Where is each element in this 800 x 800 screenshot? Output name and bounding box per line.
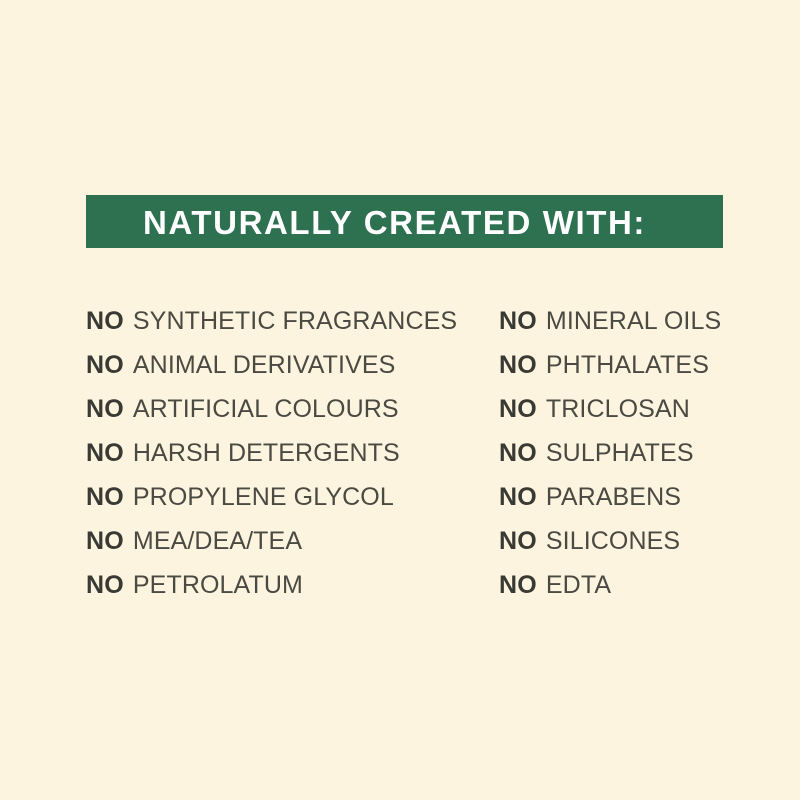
list-item: NO PETROLATUM (86, 563, 499, 607)
item-prefix-no: NO (499, 353, 537, 378)
item-label: SILICONES (546, 529, 680, 554)
item-prefix-no: NO (86, 573, 124, 598)
ingredient-claims-poster: NATURALLY CREATED WITH: NO SYNTHETIC FRA… (0, 0, 800, 800)
list-item: NO MINERAL OILS (499, 299, 746, 343)
item-prefix-no: NO (86, 397, 124, 422)
exclusion-list: NO SYNTHETIC FRAGRANCES NO ANIMAL DERIVA… (86, 299, 746, 607)
item-prefix-no: NO (499, 485, 537, 510)
list-item: NO PROPYLENE GLYCOL (86, 475, 499, 519)
item-prefix-no: NO (86, 529, 124, 554)
item-label: PETROLATUM (133, 573, 303, 598)
item-prefix-no: NO (499, 397, 537, 422)
item-label: PHTHALATES (546, 353, 709, 378)
item-label: MEA/DEA/TEA (133, 529, 302, 554)
item-label: ANIMAL DERIVATIVES (133, 353, 396, 378)
item-label: ARTIFICIAL COLOURS (133, 397, 399, 422)
item-prefix-no: NO (86, 309, 124, 334)
list-item: NO SYNTHETIC FRAGRANCES (86, 299, 499, 343)
item-label: MINERAL OILS (546, 309, 721, 334)
item-prefix-no: NO (86, 353, 124, 378)
item-prefix-no: NO (499, 309, 537, 334)
item-prefix-no: NO (499, 529, 537, 554)
list-item: NO ANIMAL DERIVATIVES (86, 343, 499, 387)
left-column: NO SYNTHETIC FRAGRANCES NO ANIMAL DERIVA… (86, 299, 499, 607)
item-label: HARSH DETERGENTS (133, 441, 400, 466)
item-label: PROPYLENE GLYCOL (133, 485, 394, 510)
item-label: SULPHATES (546, 441, 694, 466)
item-label: PARABENS (546, 485, 681, 510)
page-title: NATURALLY CREATED WITH: (143, 206, 646, 239)
item-prefix-no: NO (86, 485, 124, 510)
item-label: TRICLOSAN (546, 397, 690, 422)
item-prefix-no: NO (499, 441, 537, 466)
list-item: NO TRICLOSAN (499, 387, 746, 431)
list-item: NO EDTA (499, 563, 746, 607)
list-item: NO HARSH DETERGENTS (86, 431, 499, 475)
list-item: NO PARABENS (499, 475, 746, 519)
list-item: NO ARTIFICIAL COLOURS (86, 387, 499, 431)
item-prefix-no: NO (499, 573, 537, 598)
list-item: NO SULPHATES (499, 431, 746, 475)
item-label: EDTA (546, 573, 611, 598)
banner-naturally-created-with: NATURALLY CREATED WITH: (86, 195, 723, 248)
item-label: SYNTHETIC FRAGRANCES (133, 309, 457, 334)
list-item: NO MEA/DEA/TEA (86, 519, 499, 563)
right-column: NO MINERAL OILS NO PHTHALATES NO TRICLOS… (499, 299, 746, 607)
list-item: NO PHTHALATES (499, 343, 746, 387)
list-item: NO SILICONES (499, 519, 746, 563)
item-prefix-no: NO (86, 441, 124, 466)
